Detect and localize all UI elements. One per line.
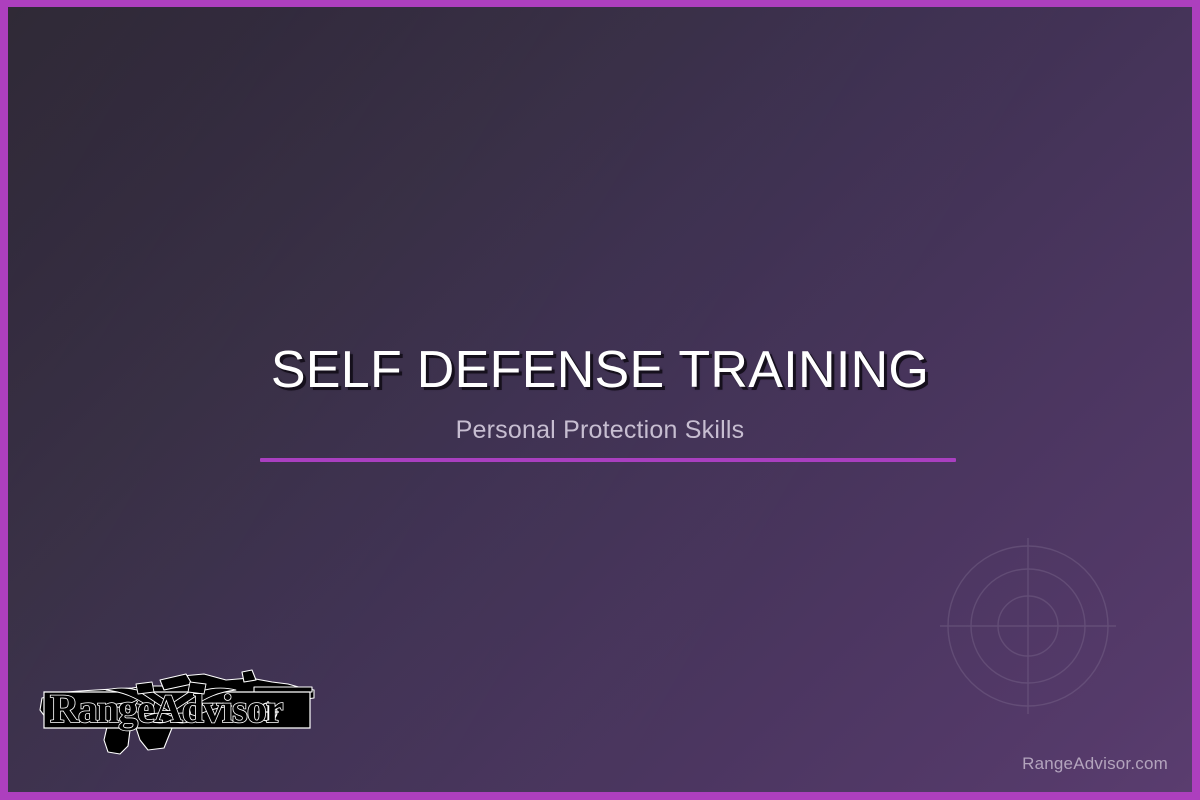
title-block: SELF DEFENSE TRAINING Personal Protectio… — [8, 343, 1192, 445]
title-divider — [260, 458, 956, 462]
presentation-slide: SELF DEFENSE TRAINING Personal Protectio… — [0, 0, 1200, 800]
logo-wordmark: RangeAdvisor — [50, 686, 283, 731]
crosshair-target-icon — [940, 538, 1116, 714]
page-subtitle: Personal Protection Skills — [8, 416, 1192, 445]
footer-url: RangeAdvisor.com — [1022, 754, 1168, 774]
rifle-logo-icon: RangeAdvisor — [36, 662, 318, 762]
page-title: SELF DEFENSE TRAINING — [8, 343, 1192, 398]
slide-canvas: SELF DEFENSE TRAINING Personal Protectio… — [8, 7, 1192, 792]
